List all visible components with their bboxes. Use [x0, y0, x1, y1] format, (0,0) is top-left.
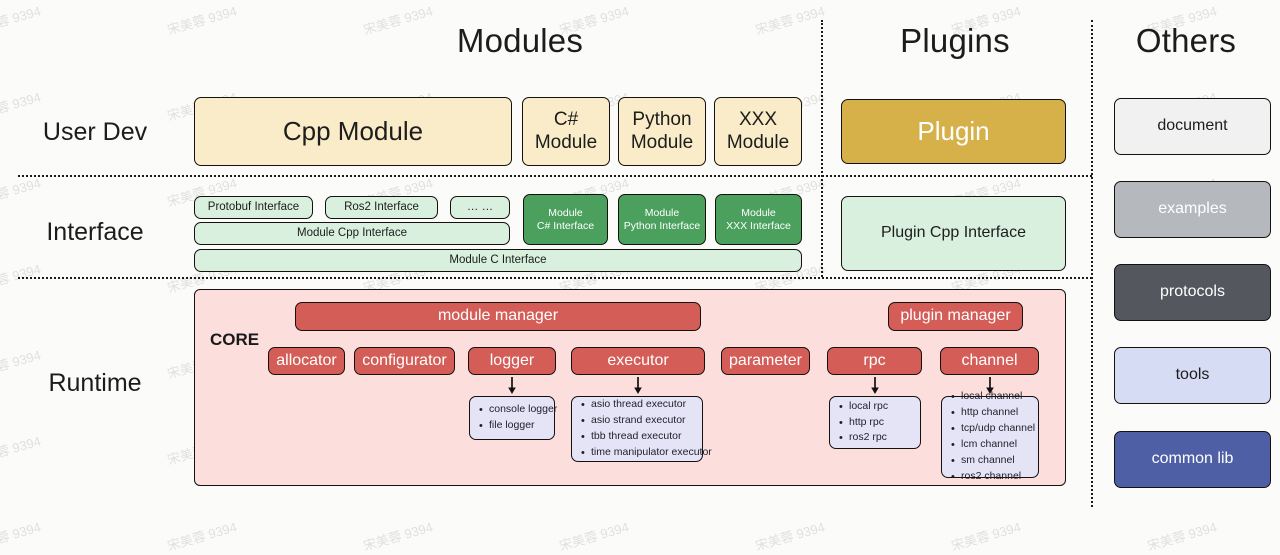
list-item: ros2 rpc	[849, 430, 888, 446]
watermark-text: 宋美蓉 9394	[165, 517, 239, 555]
list-item: http channel	[961, 405, 1035, 421]
box-logger[interactable]: logger	[468, 347, 556, 375]
list-item: local channel	[961, 389, 1035, 405]
separator-plugins-others	[1091, 20, 1093, 507]
executor-items-ul: asio thread executorasio strand executor…	[578, 397, 712, 461]
box-document[interactable]: document	[1114, 98, 1271, 155]
list-item: file logger	[489, 418, 557, 434]
box-common-lib[interactable]: common lib	[1114, 431, 1271, 488]
box-configurator[interactable]: configurator	[354, 347, 455, 375]
logger-items-ul: console loggerfile logger	[476, 402, 557, 434]
watermark-text: 宋美蓉 9394	[0, 431, 43, 469]
row-label-runtime: Runtime	[0, 369, 190, 398]
box-module-c-interface[interactable]: Module C Interface	[194, 249, 802, 272]
watermark-text: 宋美蓉 9394	[753, 1, 827, 39]
watermark-text: 宋美蓉 9394	[949, 517, 1023, 555]
list-executor-items: asio thread executorasio strand executor…	[571, 396, 703, 462]
separator-interface-runtime	[18, 277, 1092, 279]
box-channel[interactable]: channel	[940, 347, 1039, 375]
box-csharp-module[interactable]: C# Module	[522, 97, 610, 166]
watermark-text: 宋美蓉 9394	[0, 173, 43, 211]
list-item: tcp/udp channel	[961, 421, 1035, 437]
box-plugin-cpp-interface[interactable]: Plugin Cpp Interface	[841, 196, 1066, 271]
rpc-items-ul: local rpchttp rpcros2 rpc	[836, 399, 888, 447]
list-item: lcm channel	[961, 437, 1035, 453]
box-protocols[interactable]: protocols	[1114, 264, 1271, 321]
box-ros2-interface[interactable]: Ros2 Interface	[325, 196, 438, 219]
list-item: console logger	[489, 402, 557, 418]
box-module-python-interface[interactable]: Module Python Interface	[618, 194, 706, 245]
list-item: sm channel	[961, 453, 1035, 469]
box-rpc[interactable]: rpc	[827, 347, 922, 375]
watermark-text: 宋美蓉 9394	[753, 517, 827, 555]
box-protobuf-interface[interactable]: Protobuf Interface	[194, 196, 313, 219]
list-item: http rpc	[849, 415, 888, 431]
watermark-text: 宋美蓉 9394	[165, 1, 239, 39]
column-header-others: Others	[1100, 22, 1272, 60]
separator-user-dev-interface	[18, 175, 1092, 177]
list-logger-items: console loggerfile logger	[469, 396, 555, 440]
box-examples[interactable]: examples	[1114, 181, 1271, 238]
box-parameter[interactable]: parameter	[721, 347, 810, 375]
watermark-text: 宋美蓉 9394	[557, 517, 631, 555]
box-cpp-module[interactable]: Cpp Module	[194, 97, 512, 166]
arrow-down-logger	[506, 377, 518, 394]
architecture-diagram: 宋美蓉 9394宋美蓉 9394宋美蓉 9394宋美蓉 9394宋美蓉 9394…	[0, 0, 1280, 519]
column-header-modules: Modules	[380, 22, 660, 60]
watermark-text: 宋美蓉 9394	[0, 1, 43, 39]
box-module-xxx-interface[interactable]: Module XXX Interface	[715, 194, 802, 245]
list-item: asio strand executor	[591, 413, 712, 429]
box-xxx-module[interactable]: XXX Module	[714, 97, 802, 166]
list-channel-items: local channelhttp channeltcp/udp channel…	[941, 396, 1039, 478]
column-header-plugins: Plugins	[830, 22, 1080, 60]
watermark-text: 宋美蓉 9394	[0, 517, 43, 555]
box-plugin-manager[interactable]: plugin manager	[888, 302, 1023, 331]
watermark-text: 宋美蓉 9394	[1145, 517, 1219, 555]
list-item: time manipulator executor	[591, 445, 712, 461]
arrow-down-rpc	[869, 377, 881, 394]
box-more-interfaces[interactable]: … …	[450, 196, 510, 219]
channel-items-ul: local channelhttp channeltcp/udp channel…	[948, 389, 1035, 485]
box-module-csharp-interface[interactable]: Module C# Interface	[523, 194, 608, 245]
box-tools[interactable]: tools	[1114, 347, 1271, 404]
box-plugin[interactable]: Plugin	[841, 99, 1066, 164]
box-module-cpp-interface[interactable]: Module Cpp Interface	[194, 222, 510, 245]
list-item: local rpc	[849, 399, 888, 415]
watermark-text: 宋美蓉 9394	[361, 517, 435, 555]
row-label-interface: Interface	[0, 218, 190, 247]
list-rpc-items: local rpchttp rpcros2 rpc	[829, 396, 921, 449]
list-item: ros2 channel	[961, 469, 1035, 485]
separator-modules-plugins	[821, 20, 823, 277]
box-executor[interactable]: executor	[571, 347, 705, 375]
box-allocator[interactable]: allocator	[268, 347, 345, 375]
core-label: CORE	[210, 330, 259, 350]
row-label-user-dev: User Dev	[0, 118, 190, 147]
list-item: tbb thread executor	[591, 429, 712, 445]
box-python-module[interactable]: Python Module	[618, 97, 706, 166]
box-module-manager[interactable]: module manager	[295, 302, 701, 331]
arrow-down-executor	[632, 377, 644, 394]
list-item: asio thread executor	[591, 397, 712, 413]
